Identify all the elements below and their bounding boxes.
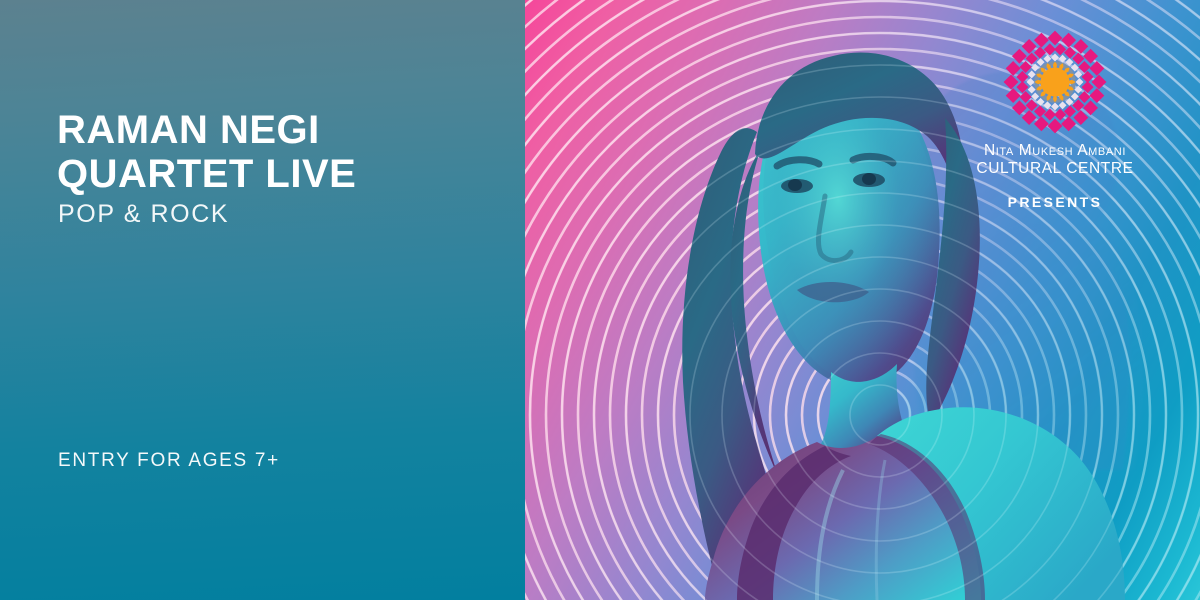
organizer-name-line-2: CULTURAL CENTRE bbox=[930, 160, 1180, 178]
nmacc-mandala-logo-icon bbox=[995, 28, 1115, 136]
page-title: RAMAN NEGI QUARTET LIVE bbox=[57, 108, 356, 196]
entry-age-note: ENTRY FOR AGES 7+ bbox=[58, 450, 280, 472]
organizer-name-line-1: Nita Mukesh Ambani bbox=[930, 142, 1180, 160]
title-line-1: RAMAN NEGI bbox=[57, 108, 356, 152]
organizer-name: Nita Mukesh Ambani CULTURAL CENTRE bbox=[930, 142, 1180, 178]
event-genre-label: POP & ROCK bbox=[58, 200, 229, 229]
title-line-2: QUARTET LIVE bbox=[57, 152, 356, 196]
presents-label: PRESENTS bbox=[930, 194, 1180, 210]
event-banner: RAMAN NEGI QUARTET LIVE POP & ROCK ENTRY… bbox=[0, 0, 1200, 600]
text-panel: RAMAN NEGI QUARTET LIVE POP & ROCK ENTRY… bbox=[0, 0, 525, 600]
organizer-logo-block: Nita Mukesh Ambani CULTURAL CENTRE PRESE… bbox=[930, 28, 1180, 210]
